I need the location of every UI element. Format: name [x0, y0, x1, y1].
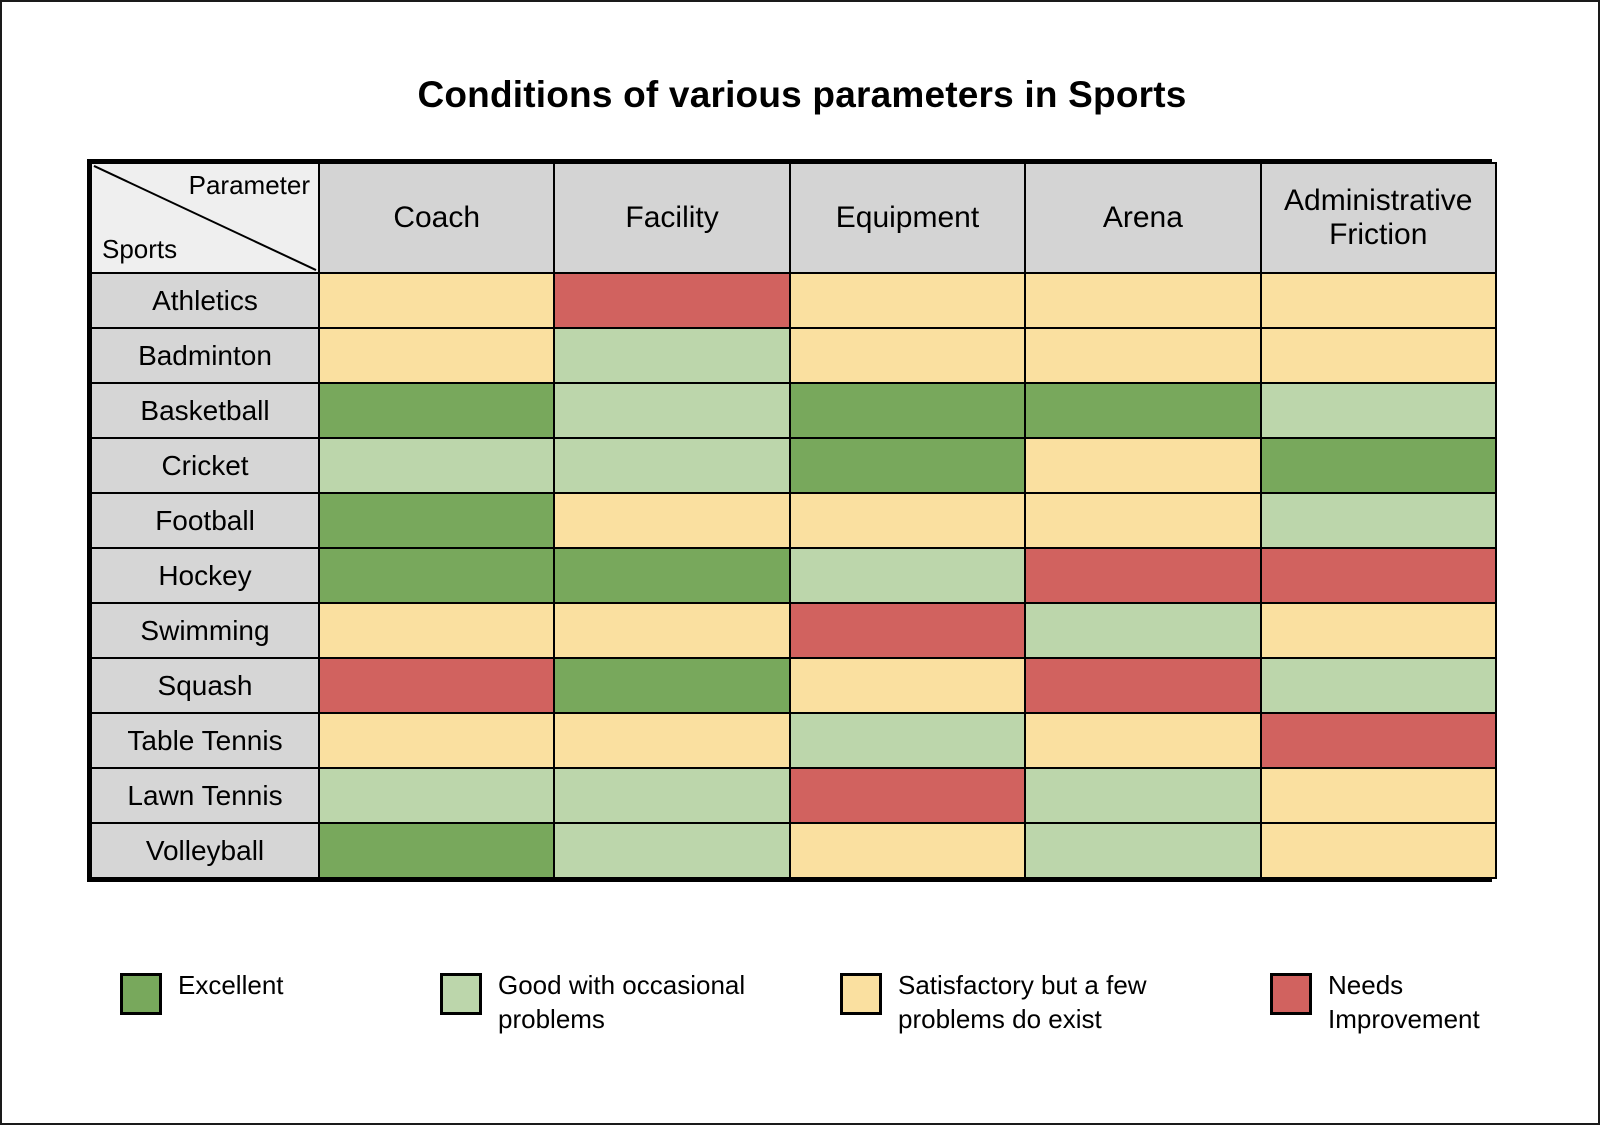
- matrix-body: AthleticsBadmintonBasketballCricketFootb…: [91, 273, 1496, 878]
- matrix-cell[interactable]: [319, 713, 554, 768]
- legend-label-satisfactory: Satisfactory but a few problems do exist: [898, 960, 1198, 1037]
- matrix-cell[interactable]: [554, 383, 789, 438]
- row-header-table-tennis: Table Tennis: [91, 713, 319, 768]
- matrix-cell[interactable]: [554, 823, 789, 878]
- row-header-badminton: Badminton: [91, 328, 319, 383]
- table-row: Table Tennis: [91, 713, 1496, 768]
- row-header-lawn-tennis: Lawn Tennis: [91, 768, 319, 823]
- matrix-cell[interactable]: [554, 493, 789, 548]
- table-row: Football: [91, 493, 1496, 548]
- matrix-cell[interactable]: [1025, 383, 1260, 438]
- legend-item-excellent[interactable]: Excellent: [120, 960, 440, 1015]
- table-row: Lawn Tennis: [91, 768, 1496, 823]
- matrix-cell[interactable]: [790, 658, 1025, 713]
- matrix-cell[interactable]: [1025, 603, 1260, 658]
- matrix-cell[interactable]: [319, 548, 554, 603]
- row-header-cricket: Cricket: [91, 438, 319, 493]
- matrix-cell[interactable]: [790, 273, 1025, 328]
- legend-swatch-needs: [1270, 973, 1312, 1015]
- matrix-cell[interactable]: [319, 383, 554, 438]
- row-header-basketball: Basketball: [91, 383, 319, 438]
- matrix-cell[interactable]: [319, 823, 554, 878]
- legend-label-needs: Needs Improvement: [1328, 960, 1520, 1037]
- matrix-cell[interactable]: [1025, 328, 1260, 383]
- page-title: Conditions of various parameters in Spor…: [2, 74, 1600, 116]
- matrix-cell[interactable]: [1025, 493, 1260, 548]
- corner-sports-label: Sports: [102, 236, 177, 262]
- row-header-volleyball: Volleyball: [91, 823, 319, 878]
- matrix-cell[interactable]: [554, 713, 789, 768]
- matrix-cell[interactable]: [1261, 438, 1496, 493]
- column-header-equipment: Equipment: [790, 163, 1025, 273]
- matrix-cell[interactable]: [1025, 713, 1260, 768]
- legend-label-good: Good with occasional problems: [498, 960, 798, 1037]
- table-row: Hockey: [91, 548, 1496, 603]
- matrix-cell[interactable]: [1261, 658, 1496, 713]
- matrix-cell[interactable]: [790, 493, 1025, 548]
- row-header-football: Football: [91, 493, 319, 548]
- row-header-hockey: Hockey: [91, 548, 319, 603]
- matrix-cell[interactable]: [790, 328, 1025, 383]
- matrix-cell[interactable]: [1261, 273, 1496, 328]
- matrix-cell[interactable]: [554, 273, 789, 328]
- sports-parameter-matrix: Parameter Sports Coach Facility Equipmen…: [90, 162, 1497, 879]
- matrix-cell[interactable]: [1261, 823, 1496, 878]
- matrix-cell[interactable]: [790, 823, 1025, 878]
- legend-swatch-good: [440, 973, 482, 1015]
- matrix-cell[interactable]: [319, 658, 554, 713]
- legend-item-needs[interactable]: Needs Improvement: [1270, 960, 1520, 1037]
- matrix-cell[interactable]: [790, 603, 1025, 658]
- matrix-cell[interactable]: [554, 548, 789, 603]
- matrix-cell[interactable]: [1261, 548, 1496, 603]
- matrix-cell[interactable]: [319, 328, 554, 383]
- legend-item-good[interactable]: Good with occasional problems: [440, 960, 840, 1037]
- legend-swatch-satisfactory: [840, 973, 882, 1015]
- legend-label-excellent: Excellent: [178, 960, 284, 1002]
- matrix-cell[interactable]: [790, 383, 1025, 438]
- matrix-cell[interactable]: [554, 328, 789, 383]
- matrix-cell[interactable]: [790, 713, 1025, 768]
- matrix-cell[interactable]: [1261, 383, 1496, 438]
- matrix-cell[interactable]: [1025, 438, 1260, 493]
- matrix-cell[interactable]: [1261, 768, 1496, 823]
- matrix-cell[interactable]: [554, 438, 789, 493]
- matrix-cell[interactable]: [1025, 658, 1260, 713]
- matrix-cell[interactable]: [1025, 273, 1260, 328]
- matrix-table-container: Parameter Sports Coach Facility Equipmen…: [87, 159, 1492, 882]
- legend-swatch-excellent: [120, 973, 162, 1015]
- matrix-cell[interactable]: [554, 603, 789, 658]
- matrix-cell[interactable]: [319, 273, 554, 328]
- matrix-cell[interactable]: [790, 548, 1025, 603]
- matrix-cell[interactable]: [554, 768, 789, 823]
- table-row: Badminton: [91, 328, 1496, 383]
- row-header-swimming: Swimming: [91, 603, 319, 658]
- matrix-cell[interactable]: [790, 438, 1025, 493]
- matrix-cell[interactable]: [1261, 713, 1496, 768]
- table-row: Athletics: [91, 273, 1496, 328]
- matrix-cell[interactable]: [1025, 768, 1260, 823]
- corner-parameter-label: Parameter: [189, 172, 310, 198]
- matrix-cell[interactable]: [319, 493, 554, 548]
- matrix-cell[interactable]: [319, 603, 554, 658]
- row-header-squash: Squash: [91, 658, 319, 713]
- column-header-administrative-friction: Administrative Friction: [1261, 163, 1496, 273]
- column-header-facility: Facility: [554, 163, 789, 273]
- matrix-cell[interactable]: [790, 768, 1025, 823]
- matrix-cell[interactable]: [1261, 328, 1496, 383]
- matrix-cell[interactable]: [1025, 548, 1260, 603]
- table-row: Basketball: [91, 383, 1496, 438]
- table-row: Swimming: [91, 603, 1496, 658]
- column-header-arena: Arena: [1025, 163, 1260, 273]
- matrix-cell[interactable]: [1261, 493, 1496, 548]
- matrix-cell[interactable]: [319, 438, 554, 493]
- matrix-cell[interactable]: [554, 658, 789, 713]
- table-row: Volleyball: [91, 823, 1496, 878]
- table-row: Squash: [91, 658, 1496, 713]
- matrix-cell[interactable]: [1261, 603, 1496, 658]
- legend-item-satisfactory[interactable]: Satisfactory but a few problems do exist: [840, 960, 1270, 1037]
- header-row: Parameter Sports Coach Facility Equipmen…: [91, 163, 1496, 273]
- matrix-cell[interactable]: [1025, 823, 1260, 878]
- corner-axis-header: Parameter Sports: [91, 163, 319, 273]
- matrix-cell[interactable]: [319, 768, 554, 823]
- page-root: Conditions of various parameters in Spor…: [0, 0, 1600, 1125]
- matrix-header: Parameter Sports Coach Facility Equipmen…: [91, 163, 1496, 273]
- row-header-athletics: Athletics: [91, 273, 319, 328]
- legend: ExcellentGood with occasional problemsSa…: [120, 960, 1520, 1037]
- column-header-coach: Coach: [319, 163, 554, 273]
- table-row: Cricket: [91, 438, 1496, 493]
